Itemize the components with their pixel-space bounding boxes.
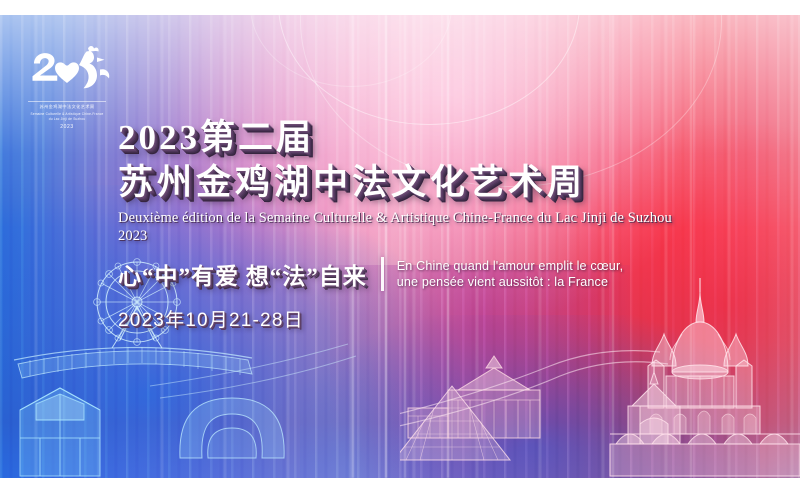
logo-title-fr2: du Lac Jinji de Suzhou (22, 117, 112, 122)
logo-year: 2023 (22, 124, 112, 130)
headline-block: 2023第二届 苏州金鸡湖中法文化艺术周 Deuxième édition de… (118, 118, 738, 332)
logo-title-cn: 苏州金鸡湖中法文化艺术周 (22, 104, 112, 111)
slogan-chinese: 心“中”有爱 想“法”自来 (118, 257, 367, 291)
slogan-french-line1: En Chine quand l'amour emplit le cœur, (397, 258, 624, 274)
slogan-french-line2: une pensée vient aussitôt : la France (397, 274, 624, 290)
logo-divider (28, 101, 106, 102)
event-logo[interactable]: 苏州金鸡湖中法文化艺术周 Semaine Culturelle & Artist… (22, 37, 112, 129)
edition-line: 2023第二届 (118, 118, 738, 158)
rooster-heart-emblem-icon (22, 37, 112, 99)
event-poster: 苏州金鸡湖中法文化艺术周 Semaine Culturelle & Artist… (0, 0, 800, 495)
event-date: 2023年10月21-28日 (118, 305, 738, 332)
page-title: 苏州金鸡湖中法文化艺术周 (118, 162, 738, 204)
slogan-french-block: En Chine quand l'amour emplit le cœur, u… (397, 258, 624, 290)
slogan-divider (381, 257, 384, 291)
slogan-row: 心“中”有爱 想“法”自来 En Chine quand l'amour emp… (118, 257, 738, 291)
subtitle-french: Deuxième édition de la Semaine Culturell… (118, 210, 703, 245)
logo-title-fr1: Semaine Culturelle & Artistique Chine-Fr… (22, 112, 112, 117)
poster-artwork: 苏州金鸡湖中法文化艺术周 Semaine Culturelle & Artist… (0, 15, 800, 478)
